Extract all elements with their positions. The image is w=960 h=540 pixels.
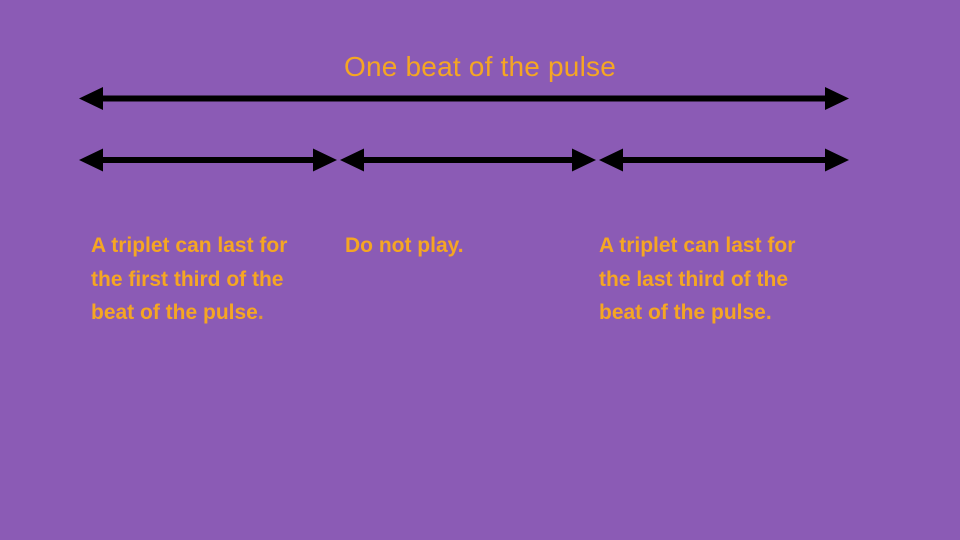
caption-middle-third: Do not play.	[345, 229, 565, 263]
caption-first-third-tail: .	[258, 301, 264, 324]
arrowhead-left-icon	[340, 149, 364, 172]
caption-last-third: A triplet can last for the last third of…	[599, 229, 814, 330]
arrowhead-left-icon	[79, 149, 103, 172]
caption-middle-third-text: Do not play.	[345, 234, 464, 257]
first-third-double-arrow	[79, 149, 337, 172]
first-third-arrow-shaft	[96, 157, 320, 163]
page-title: One beat of the pulse	[0, 48, 960, 86]
slide-canvas: One beat of the pulse	[0, 0, 960, 540]
arrowhead-right-icon	[313, 149, 337, 172]
middle-third-double-arrow	[340, 149, 596, 172]
middle-third-arrow-shaft	[363, 157, 575, 163]
caption-first-third: A triplet can last for the first third o…	[91, 229, 306, 330]
caption-last-third-text: A triplet can last for the last third of…	[599, 234, 795, 324]
arrowhead-left-icon	[79, 87, 103, 110]
full-beat-arrow-shaft	[96, 96, 834, 102]
arrowhead-right-icon	[572, 149, 596, 172]
last-third-double-arrow	[599, 149, 849, 172]
arrowhead-right-icon	[825, 149, 849, 172]
thirds-arrow-row	[79, 149, 849, 172]
arrowhead-right-icon	[825, 87, 849, 110]
full-beat-double-arrow	[79, 87, 849, 110]
last-third-arrow-shaft	[622, 157, 834, 163]
arrowhead-left-icon	[599, 149, 623, 172]
